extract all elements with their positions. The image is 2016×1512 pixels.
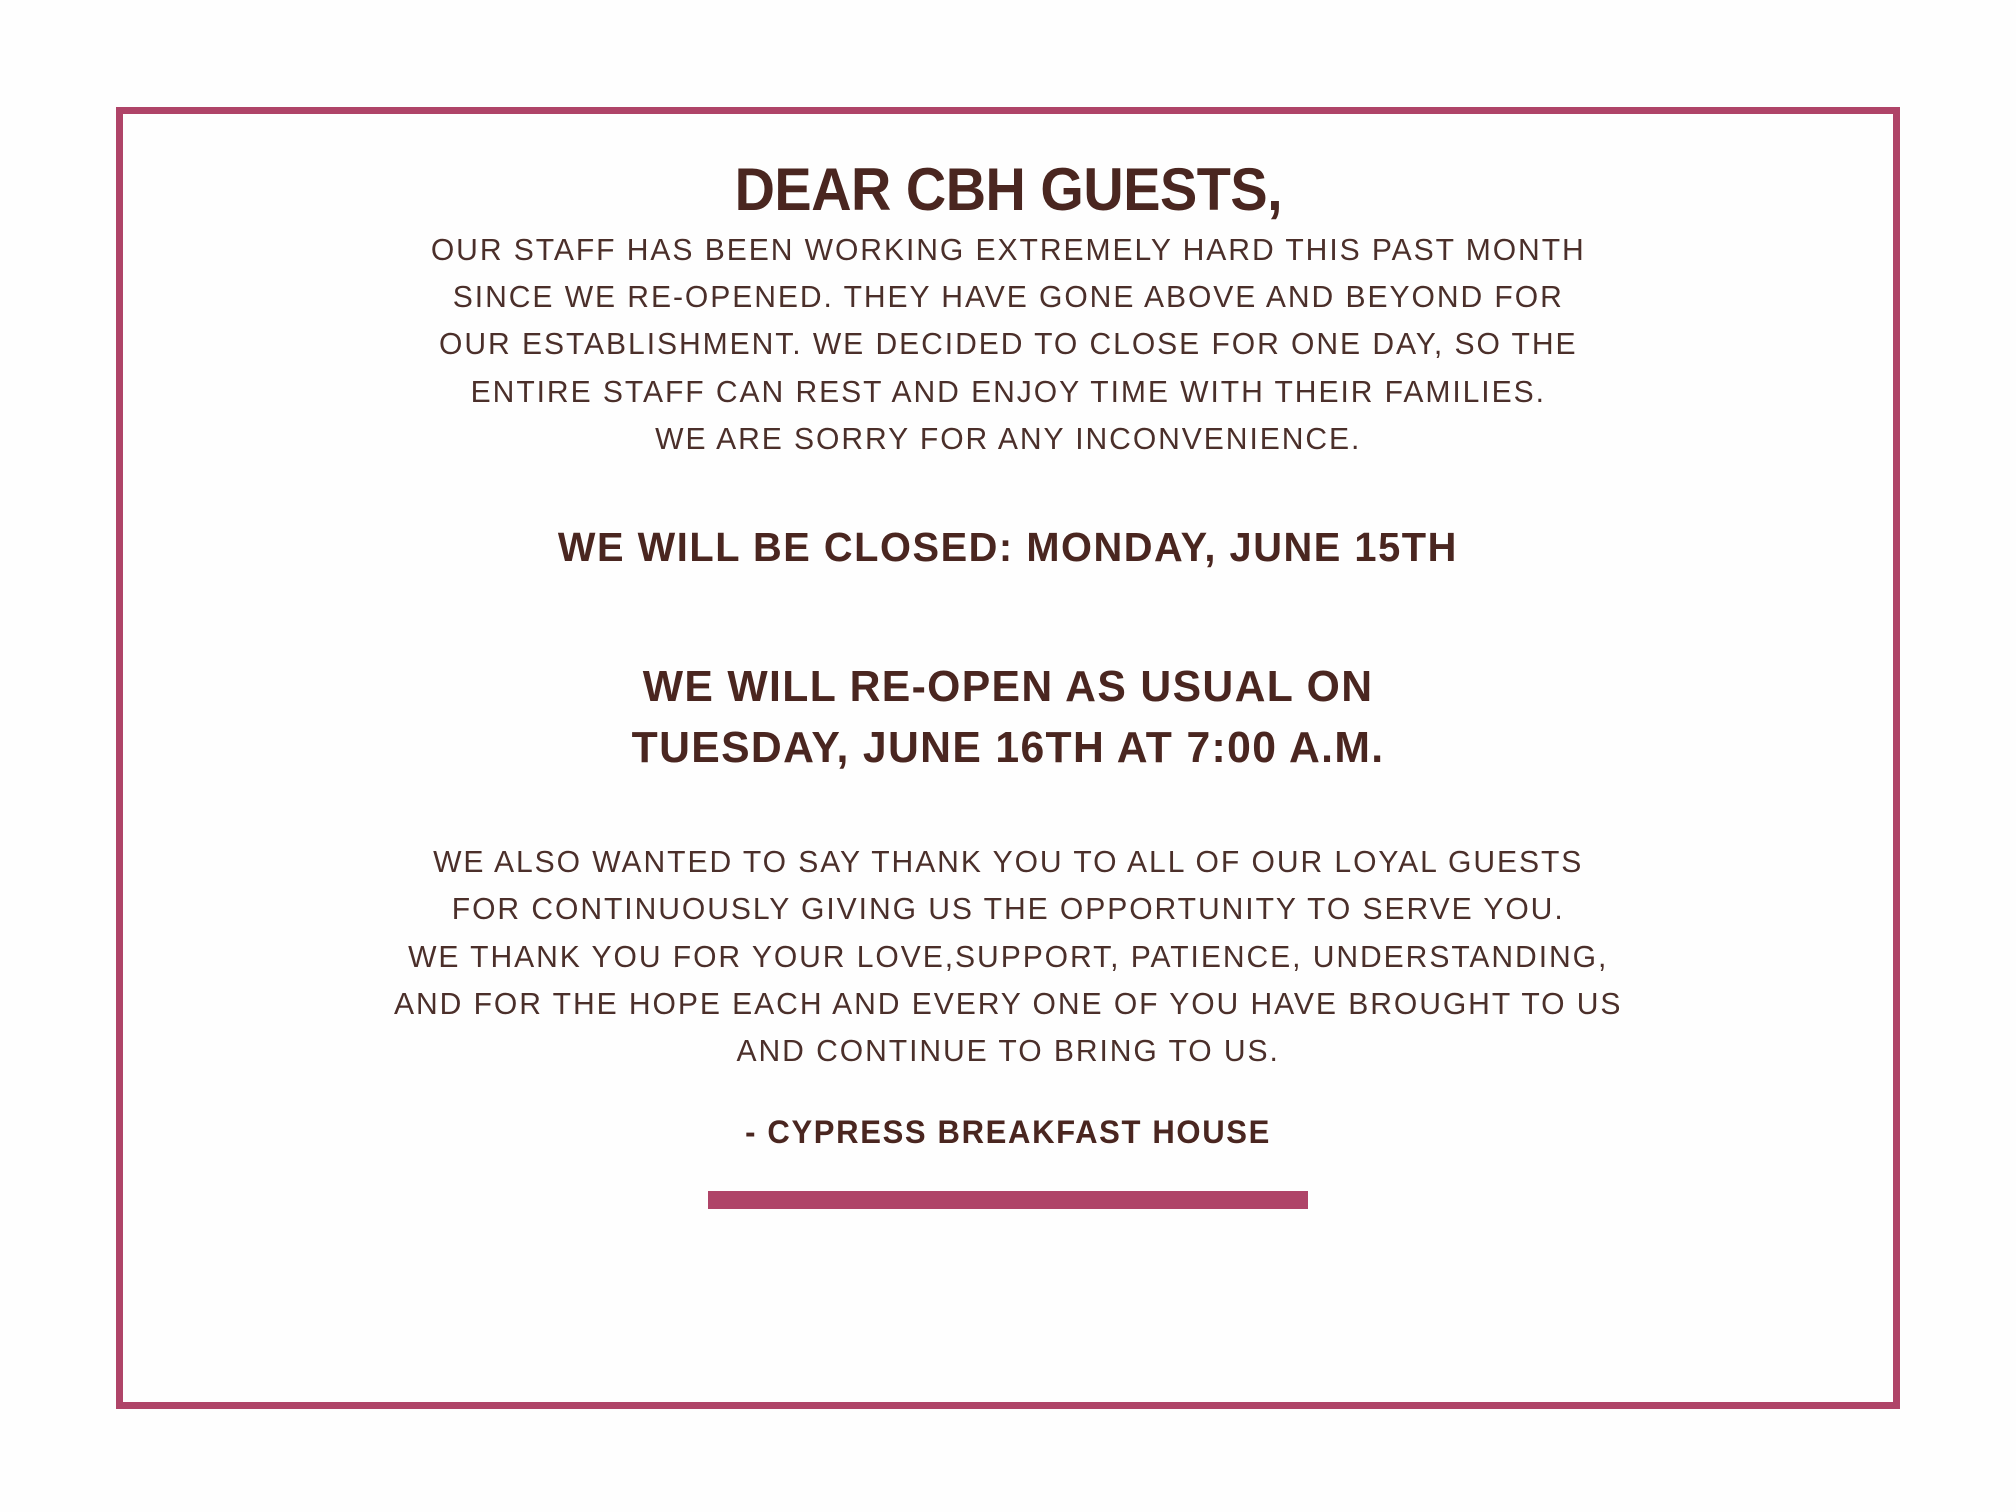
- intro-line-1: OUR STAFF HAS BEEN WORKING EXTREMELY HAR…: [431, 226, 1586, 273]
- signature-line: - CYPRESS BREAKFAST HOUSE: [745, 1114, 1271, 1151]
- thanks-paragraph: WE ALSO WANTED TO SAY THANK YOU TO ALL O…: [394, 838, 1622, 1074]
- page-title: DEAR CBH GUESTS,: [734, 159, 1282, 220]
- thanks-line-3: WE THANK YOU FOR YOUR LOVE,SUPPORT, PATI…: [394, 933, 1622, 980]
- poster-content: DEAR CBH GUESTS, OUR STAFF HAS BEEN WORK…: [116, 107, 1900, 1409]
- accent-rule-container: [116, 1191, 1900, 1209]
- intro-line-3: OUR ESTABLISHMENT. WE DECIDED TO CLOSE F…: [431, 320, 1586, 367]
- thanks-line-1: WE ALSO WANTED TO SAY THANK YOU TO ALL O…: [394, 838, 1622, 885]
- closure-notice-poster: DEAR CBH GUESTS, OUR STAFF HAS BEEN WORK…: [0, 0, 2016, 1512]
- thanks-line-4: AND FOR THE HOPE EACH AND EVERY ONE OF Y…: [394, 980, 1622, 1027]
- intro-line-2: SINCE WE RE-OPENED. THEY HAVE GONE ABOVE…: [431, 273, 1586, 320]
- reopen-line-2: TUESDAY, JUNE 16TH AT 7:00 A.M.: [632, 718, 1385, 779]
- intro-line-4: ENTIRE STAFF CAN REST AND ENJOY TIME WIT…: [431, 368, 1586, 415]
- accent-rule: [708, 1191, 1308, 1209]
- thanks-line-2: FOR CONTINUOUSLY GIVING US THE OPPORTUNI…: [394, 885, 1622, 932]
- thanks-line-5: AND CONTINUE TO BRING TO US.: [394, 1027, 1622, 1074]
- intro-line-5: WE ARE SORRY FOR ANY INCONVENIENCE.: [431, 415, 1586, 462]
- intro-paragraph: OUR STAFF HAS BEEN WORKING EXTREMELY HAR…: [431, 226, 1586, 462]
- reopen-line-1: WE WILL RE-OPEN AS USUAL ON: [632, 657, 1385, 718]
- reopen-notice: WE WILL RE-OPEN AS USUAL ON TUESDAY, JUN…: [632, 657, 1385, 778]
- closure-date-notice: WE WILL BE CLOSED: MONDAY, JUNE 15TH: [558, 524, 1458, 571]
